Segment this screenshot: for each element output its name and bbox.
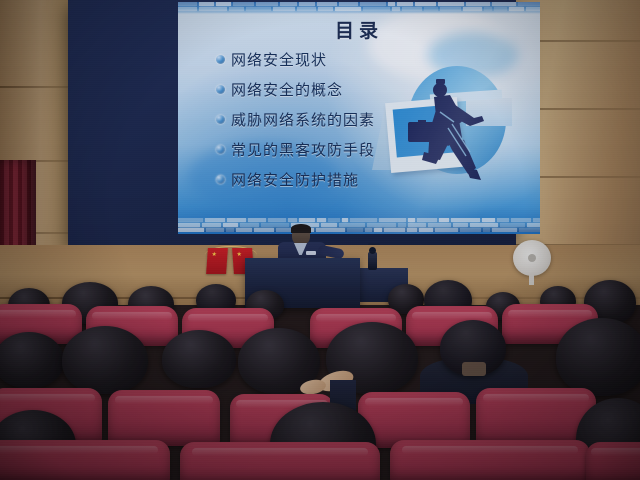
attendee-head (556, 318, 640, 396)
microphone-icon (368, 252, 377, 270)
slide-top-mosaic (178, 2, 540, 14)
globe-bullet-icon (216, 115, 225, 124)
bullet-label: 常见的黑客攻防手段 (231, 139, 375, 160)
projection-screen: 目录 网络安全现状 网络安全的概念 威胁网络系统的因素 常见的黑客攻防手段 (68, 0, 516, 245)
lecture-hall-photo: 目录 网络安全现状 网络安全的概念 威胁网络系统的因素 常见的黑客攻防手段 (0, 0, 640, 480)
slide-title: 目录 (178, 16, 540, 43)
bullet-label: 网络安全现状 (231, 49, 327, 70)
globe-bullet-icon (216, 55, 225, 64)
attendee-head (0, 332, 64, 388)
seat (0, 440, 170, 480)
globe-bullet-icon (216, 175, 225, 184)
attendee-head (62, 326, 148, 394)
globe-bullet-icon (216, 145, 225, 154)
seat (390, 440, 590, 480)
attendee-head (162, 330, 236, 388)
bullet-label: 网络安全的概念 (231, 79, 343, 100)
globe-bullet-icon (216, 85, 225, 94)
audience-seating (0, 280, 640, 480)
attendee-neck (462, 362, 486, 376)
running-businessman-illustration (378, 64, 518, 189)
seat (180, 442, 380, 480)
pedestal-fan (513, 240, 551, 284)
bullet-label: 威胁网络系统的因素 (231, 109, 375, 130)
seat (108, 390, 220, 446)
seat (586, 442, 640, 480)
presentation-slide: 目录 网络安全现状 网络安全的概念 威胁网络系统的因素 常见的黑客攻防手段 (178, 2, 540, 234)
businessman-silhouette-icon (378, 64, 518, 189)
bullet-label: 网络安全防护措施 (231, 169, 359, 190)
slide-bottom-mosaic (178, 218, 540, 232)
